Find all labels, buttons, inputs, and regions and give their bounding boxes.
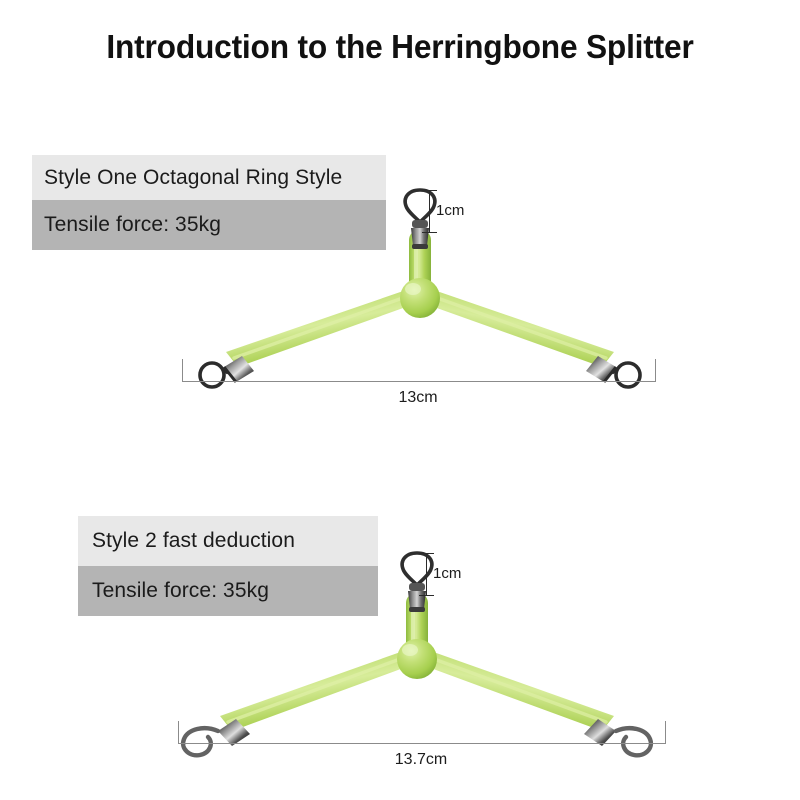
product-infographic-page: Introduction to the Herringbone Splitter… xyxy=(0,0,800,800)
style-one-width-dimension-label: 13cm xyxy=(398,389,437,407)
style-one-center-hub xyxy=(400,278,440,318)
style-one-left-arm xyxy=(226,288,420,367)
style-two-center-hub xyxy=(397,639,437,679)
style-one-height-dimension-line xyxy=(429,190,430,232)
style-two-left-arm xyxy=(220,649,417,731)
style-two-height-dimension-label: 1cm xyxy=(433,565,461,582)
style-one-height-dimension-label: 1cm xyxy=(436,202,464,219)
style-one-width-dimension-tick-left xyxy=(182,359,183,382)
style-one-height-dimension-tick-bottom xyxy=(422,232,437,233)
style-two-right-arm xyxy=(417,649,614,731)
style-one-splitter-svg xyxy=(150,170,690,400)
style-one-height-dimension-tick-top xyxy=(422,190,437,191)
style-two-width-dimension-tick-left xyxy=(178,721,179,744)
style-one-width-dimension-tick-right xyxy=(655,359,656,382)
style-two-height-dimension-tick-top xyxy=(419,553,434,554)
style-one-width-dimension-line xyxy=(182,381,655,382)
style-two-height-dimension-line xyxy=(426,553,427,595)
style-two-width-dimension-line xyxy=(178,743,665,744)
style-two-product-image xyxy=(150,535,690,765)
style-two-height-dimension-tick-bottom xyxy=(419,595,434,596)
style-one-right-arm xyxy=(420,288,614,367)
style-two-left-snap-clip xyxy=(183,719,250,755)
page-title: Introduction to the Herringbone Splitter xyxy=(16,28,784,66)
style-two-width-dimension-tick-right xyxy=(665,721,666,744)
style-two-width-dimension-label: 13.7cm xyxy=(395,751,447,769)
style-one-product-image xyxy=(150,170,690,400)
style-two-splitter-svg xyxy=(150,535,690,765)
style-two-right-snap-clip xyxy=(584,719,651,755)
